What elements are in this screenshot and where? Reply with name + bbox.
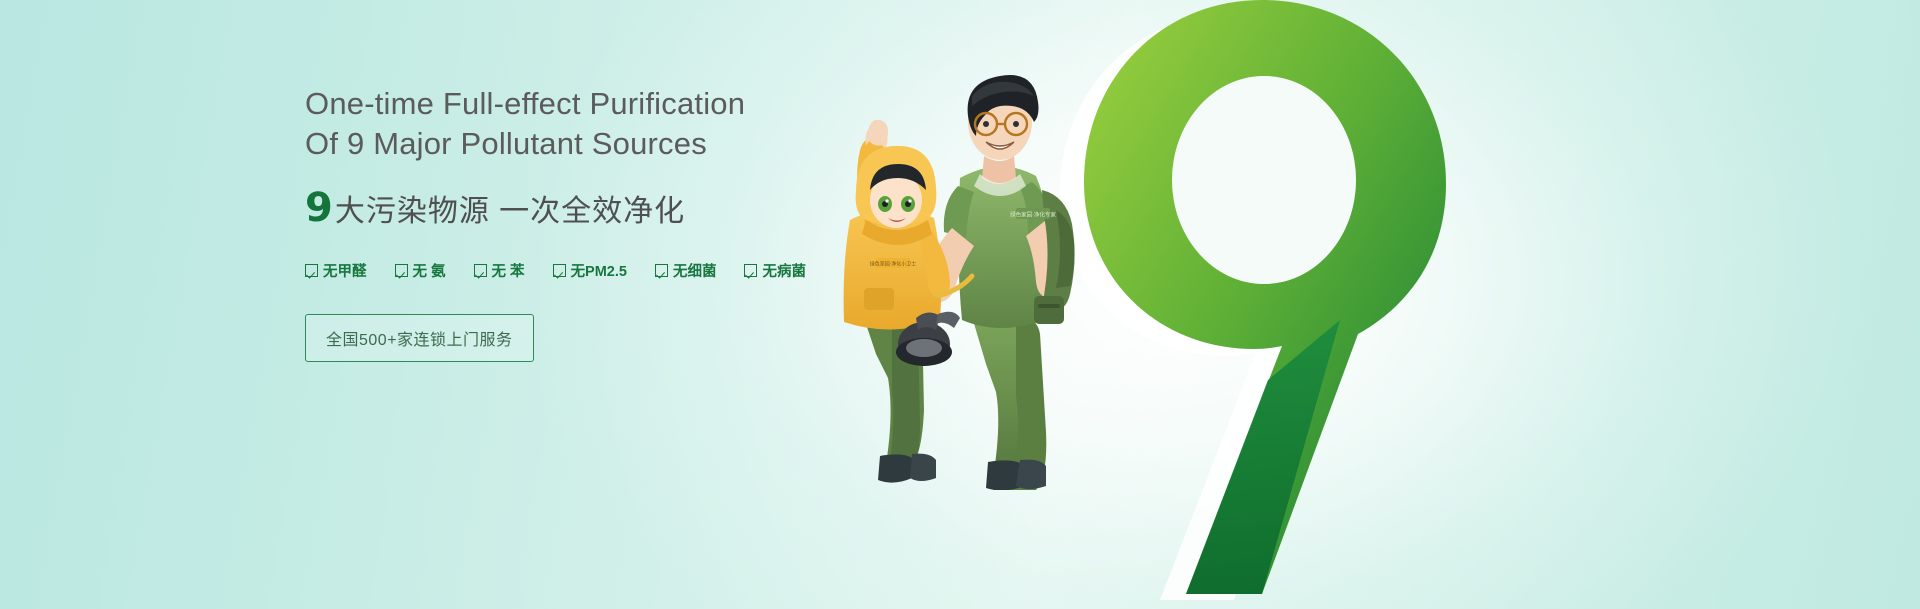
badge-no-benzene: 无 苯: [474, 260, 525, 281]
check-box-icon: [744, 264, 757, 277]
badge-label: 无甲醛: [323, 260, 367, 281]
check-box-icon: [655, 264, 668, 277]
nationwide-service-button[interactable]: 全国500+家连锁上门服务: [305, 314, 534, 362]
banner-text-column: One-time Full-effect Purification Of 9 M…: [305, 84, 945, 362]
badge-label: 无 氨: [413, 260, 446, 281]
badge-no-formaldehyde: 无甲醛: [305, 260, 367, 281]
headline-chinese: 9 大污染物源 一次全效净化: [305, 186, 945, 230]
badge-no-germs: 无病菌: [744, 260, 806, 281]
check-box-icon: [395, 264, 408, 277]
badge-label: 无细菌: [673, 260, 717, 281]
badge-no-pm25: 无PM2.5: [553, 260, 627, 281]
check-box-icon: [553, 264, 566, 277]
badge-label: 无 苯: [492, 260, 525, 281]
check-box-icon: [474, 264, 487, 277]
feature-badge-list: 无甲醛 无 氨 无 苯 无PM2.5 无细菌 无病菌: [305, 260, 945, 281]
headline-chinese-text: 大污染物源 一次全效净化: [335, 186, 685, 230]
badge-label: 无PM2.5: [571, 260, 627, 281]
headline-english: One-time Full-effect Purification Of 9 M…: [305, 84, 945, 164]
promo-banner: 绿色家园·净化专家: [0, 0, 1920, 609]
badge-no-bacteria: 无细菌: [655, 260, 717, 281]
badge-no-ammonia: 无 氨: [395, 260, 446, 281]
badge-label: 无病菌: [762, 260, 806, 281]
check-box-icon: [305, 264, 318, 277]
headline-number-nine: 9: [305, 188, 334, 228]
adult-badge-text: 绿色家园·净化专家: [1010, 211, 1056, 219]
